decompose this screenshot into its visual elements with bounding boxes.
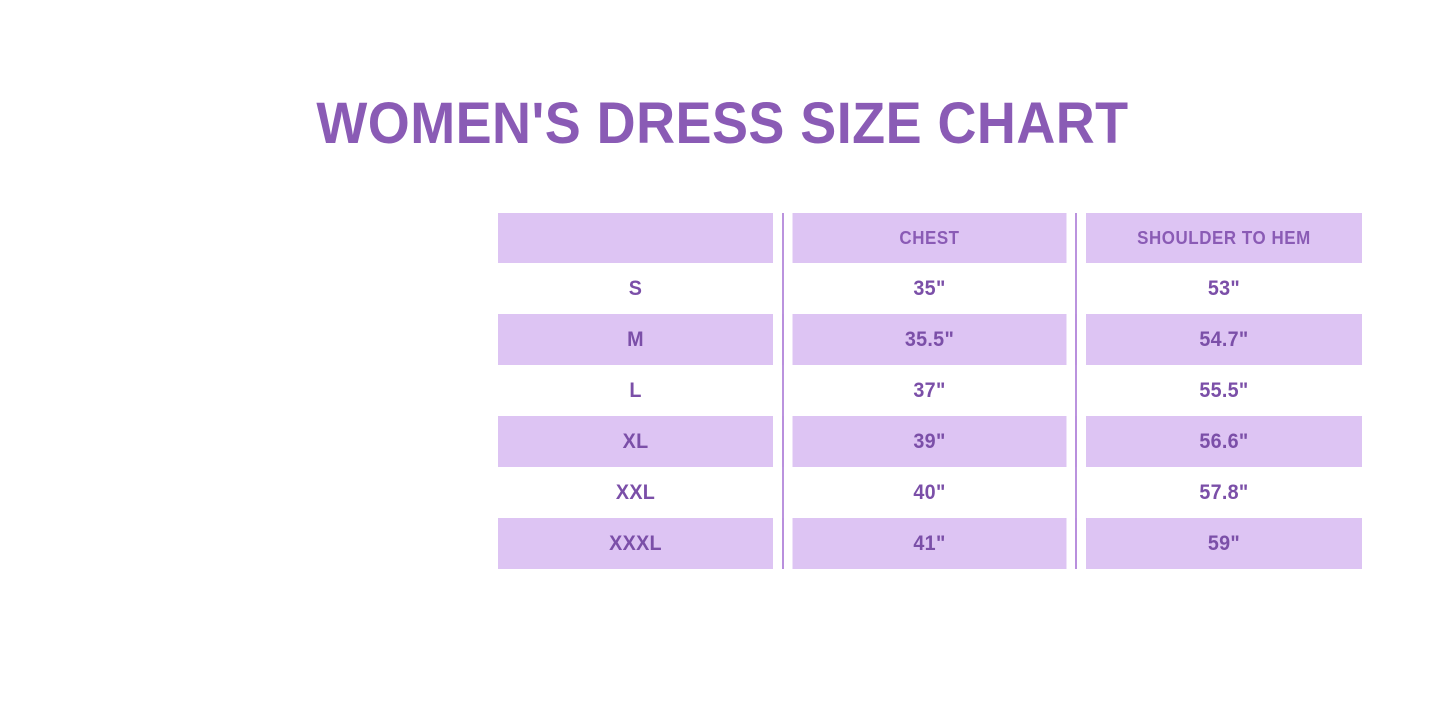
cell-chest: 40" xyxy=(792,467,1067,518)
cell-chest: 39" xyxy=(792,416,1067,467)
cell-chest: 37" xyxy=(792,365,1067,416)
column-header-size xyxy=(498,213,774,263)
table-row: XXXL 41" 59" xyxy=(489,518,1371,569)
table-row: XXL 40" 57.8" xyxy=(489,467,1371,518)
column-header-shoulder-to-hem: SHOULDER TO HEM xyxy=(1085,213,1362,263)
header-row: CHEST SHOULDER TO HEM xyxy=(489,213,1371,263)
cell-shoulder-to-hem: 57.8" xyxy=(1085,467,1362,518)
table-row: L 37" 55.5" xyxy=(489,365,1371,416)
table-row: M 35.5" 54.7" xyxy=(489,314,1371,365)
cell-chest: 35.5" xyxy=(792,314,1067,365)
cell-shoulder-to-hem: 54.7" xyxy=(1085,314,1362,365)
cell-shoulder-to-hem: 55.5" xyxy=(1085,365,1362,416)
cell-chest: 41" xyxy=(792,518,1067,569)
column-header-chest: CHEST xyxy=(792,213,1067,263)
size-chart-container: CHEST SHOULDER TO HEM S 35" 53" M 35.5" … xyxy=(489,213,1371,566)
cell-shoulder-to-hem: 53" xyxy=(1085,263,1362,314)
cell-size: M xyxy=(498,314,774,365)
table-body: S 35" 53" M 35.5" 54.7" L 37" 55.5" XL 3… xyxy=(489,263,1371,569)
size-chart-table: CHEST SHOULDER TO HEM S 35" 53" M 35.5" … xyxy=(489,213,1371,569)
cell-size: XL xyxy=(498,416,774,467)
cell-size: XXL xyxy=(498,467,774,518)
page-title: WOMEN'S DRESS SIZE CHART xyxy=(51,94,1395,155)
cell-shoulder-to-hem: 59" xyxy=(1085,518,1362,569)
cell-size: XXXL xyxy=(498,518,774,569)
cell-size: L xyxy=(498,365,774,416)
table-row: S 35" 53" xyxy=(489,263,1371,314)
cell-shoulder-to-hem: 56.6" xyxy=(1085,416,1362,467)
cell-size: S xyxy=(498,263,774,314)
table-row: XL 39" 56.6" xyxy=(489,416,1371,467)
table-header: CHEST SHOULDER TO HEM xyxy=(489,213,1371,263)
cell-chest: 35" xyxy=(792,263,1067,314)
